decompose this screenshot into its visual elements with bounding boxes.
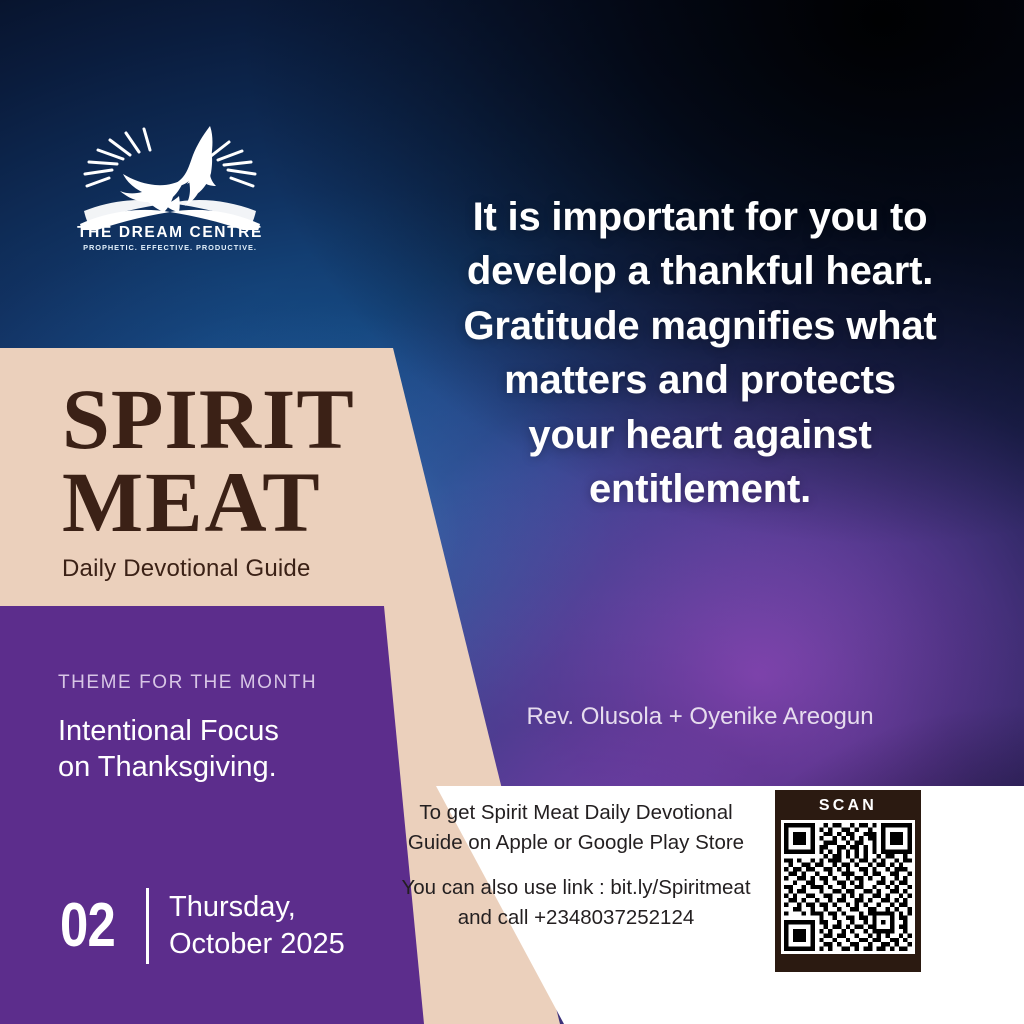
devotional-flyer: THE DREAM CENTRE PROPHETIC. EFFECTIVE. P… <box>0 0 1024 1024</box>
logo-tagline-text: PROPHETIC. EFFECTIVE. PRODUCTIVE. <box>60 243 280 252</box>
download-info-text: To get Spirit Meat Daily Devotional Guid… <box>392 798 760 932</box>
brand-logo: THE DREAM CENTRE PROPHETIC. EFFECTIVE. P… <box>60 112 280 262</box>
theme-value-line1: Intentional Focus <box>58 715 279 747</box>
date-weekday: Thursday, <box>169 891 296 923</box>
date-divider-rule <box>146 888 149 964</box>
info-paragraph-2: You can also use link : bit.ly/Spiritmea… <box>392 873 760 932</box>
theme-value-line2: on Thanksgiving. <box>58 751 277 783</box>
qr-code[interactable] <box>781 820 915 954</box>
date-block: 02 Thursday, October 2025 <box>60 888 345 964</box>
qr-scan-label: SCAN <box>775 790 921 820</box>
title-line-spirit: SPIRIT <box>62 378 402 461</box>
qr-code-block[interactable]: SCAN <box>775 790 921 972</box>
logo-name-text: THE DREAM CENTRE <box>60 224 280 242</box>
theme-block: THEME FOR THE MONTH Intentional Focus on… <box>58 672 388 786</box>
dove-over-open-book-icon <box>60 112 280 230</box>
info-paragraph-1: To get Spirit Meat Daily Devotional Guid… <box>392 798 760 857</box>
title-line-meat: MEAT <box>62 461 402 544</box>
date-full-text: Thursday, October 2025 <box>169 889 345 962</box>
masthead-subtitle: Daily Devotional Guide <box>62 555 402 583</box>
devotional-quote-text: It is important for you to develop a tha… <box>462 190 938 516</box>
masthead: SPIRIT MEAT Daily Devotional Guide <box>62 378 402 583</box>
date-month-year: October 2025 <box>169 928 345 960</box>
theme-value-text: Intentional Focus on Thanksgiving. <box>58 714 388 786</box>
date-day-number: 02 <box>60 895 131 957</box>
theme-kicker-label: THEME FOR THE MONTH <box>58 672 388 694</box>
author-byline: Rev. Olusola + Oyenike Areogun <box>462 703 938 731</box>
